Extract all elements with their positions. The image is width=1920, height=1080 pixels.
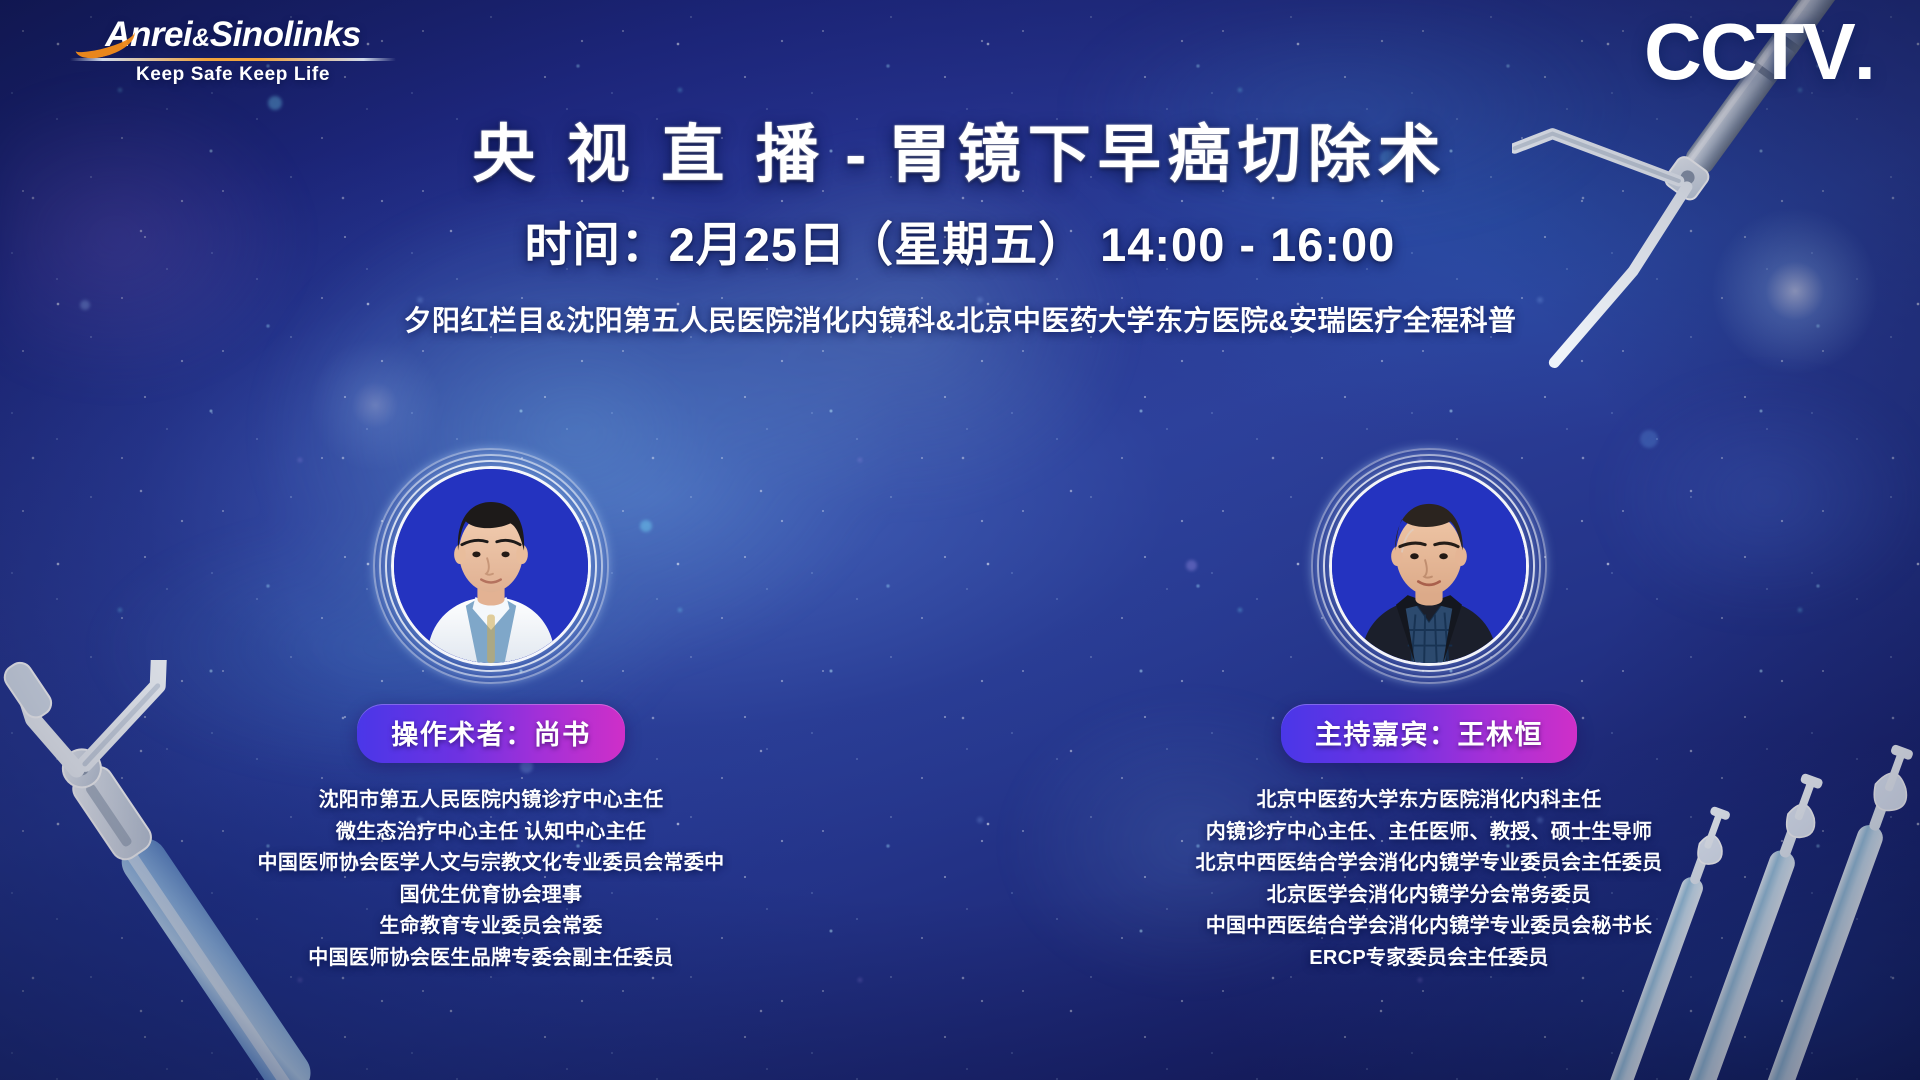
bokeh-dot (1640, 430, 1658, 448)
speaker-role-badge-operator: 操作术者：尚书 (357, 704, 625, 763)
speakers-row: 操作术者：尚书 沈阳市第五人民医院内镜诊疗中心主任 微生态治疗中心主任 认知中心… (0, 466, 1920, 975)
credential-line: 北京中医药大学东方医院消化内科主任 (1194, 785, 1664, 817)
cctv-logo: CCTV. (1644, 12, 1876, 92)
speaker-credentials-host: 北京中医药大学东方医院消化内科主任 内镜诊疗中心主任、主任医师、教授、硕士生导师… (1194, 785, 1664, 975)
brand-wordmark-ampersand: & (192, 24, 210, 52)
credential-line: 北京医学会消化内镜学分会常务委员 (1194, 880, 1664, 912)
page-title-dash: - (826, 120, 888, 190)
credential-line: ERCP专家委员会主任委员 (1194, 943, 1664, 975)
credential-line: 北京中西医结合学会消化内镜学专业委员会主任委员 (1194, 848, 1664, 880)
brand-divider (70, 58, 396, 61)
credential-line: 微生态治疗中心主任 认知中心主任 (256, 817, 726, 849)
organizers-line: 夕阳红栏目&沈阳第五人民医院消化内镜科&北京中医药大学东方医院&安瑞医疗全程科普 (0, 299, 1920, 339)
speaker-card-operator: 操作术者：尚书 沈阳市第五人民医院内镜诊疗中心主任 微生态治疗中心主任 认知中心… (256, 466, 726, 975)
avatar-photo-operator (394, 469, 588, 663)
credential-line: 中国医师协会医学人文与宗教文化专业委员会常委中 (256, 848, 726, 880)
credential-line: 生命教育专业委员会常委 (256, 911, 726, 943)
credential-line: 内镜诊疗中心主任、主任医师、教授、硕士生导师 (1194, 817, 1664, 849)
headline-block: 央 视 直 播 - 胃镜下早癌切除术 时间：2月25日（星期五） 14:00 -… (0, 118, 1920, 339)
cctv-logo-dot: . (1854, 7, 1876, 96)
brand-tagline: Keep Safe Keep Life (68, 64, 398, 86)
live-broadcast-poster: Anrei&Sinolinks Keep Safe Keep Life CCTV… (0, 0, 1920, 1080)
page-title-main: 央 视 直 播 (472, 120, 826, 190)
speaker-credentials-operator: 沈阳市第五人民医院内镜诊疗中心主任 微生态治疗中心主任 认知中心主任 中国医师协… (256, 785, 726, 975)
speaker-role-badge-host: 主持嘉宾：王林恒 (1281, 704, 1577, 763)
lens-flare (300, 330, 450, 480)
credential-line: 沈阳市第五人民医院内镜诊疗中心主任 (256, 785, 726, 817)
cctv-logo-text: CCTV (1644, 7, 1854, 96)
page-title: 央 视 直 播 - 胃镜下早癌切除术 (0, 118, 1920, 192)
brand-wordmark-sinolinks: Sinolinks (210, 15, 361, 54)
credential-line: 中国中西医结合学会消化内镜学专业委员会秘书长 (1194, 911, 1664, 943)
avatar (391, 466, 591, 666)
avatar (1329, 466, 1529, 666)
page-title-sub: 胃镜下早癌切除术 (888, 120, 1448, 190)
avatar-photo-host (1332, 469, 1526, 663)
credential-line: 国优生优育协会理事 (256, 880, 726, 912)
bokeh-dot (268, 96, 282, 110)
speaker-card-host: 主持嘉宾：王林恒 北京中医药大学东方医院消化内科主任 内镜诊疗中心主任、主任医师… (1194, 466, 1664, 975)
anrei-sinolinks-logo: Anrei&Sinolinks Keep Safe Keep Life (68, 16, 398, 86)
broadcast-time: 时间：2月25日（星期五） 14:00 - 16:00 (0, 206, 1920, 275)
credential-line: 中国医师协会医生品牌专委会副主任委员 (256, 943, 726, 975)
